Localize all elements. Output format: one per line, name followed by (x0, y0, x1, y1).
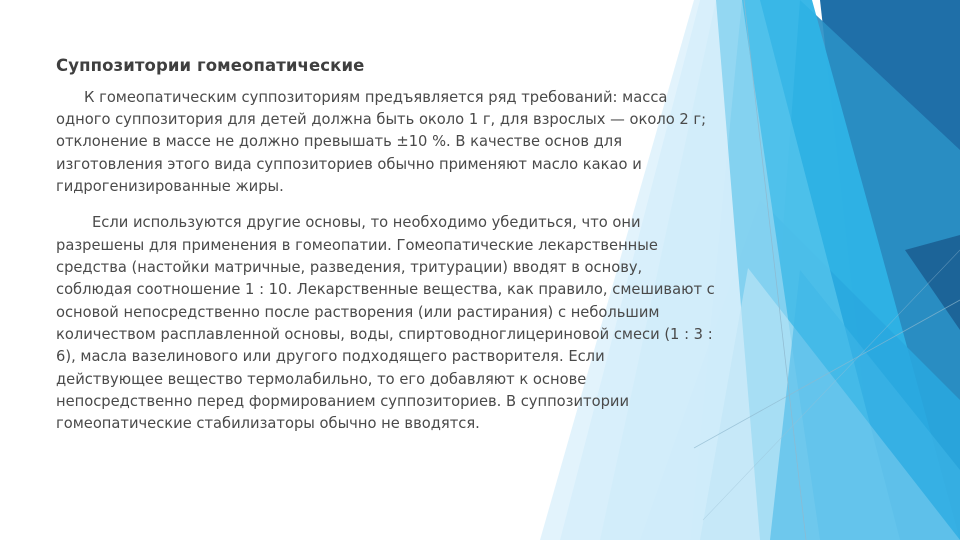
decor-shape-notch (905, 235, 960, 330)
decor-shape-sky-2 (770, 270, 960, 540)
decor-hairline-3 (703, 250, 960, 520)
decor-shape-deep-1 (820, 0, 960, 540)
body-paragraph-2: Если используются другие основы, то необ… (56, 212, 716, 435)
decor-hairline-1 (744, 0, 806, 540)
decor-shape-bright-1 (690, 0, 960, 540)
decor-hairline-2 (694, 300, 960, 448)
slide-content: Суппозитории гомеопатические К гомеопати… (56, 56, 716, 445)
page-title: Суппозитории гомеопатические (56, 56, 716, 77)
body-paragraph-1: К гомеопатическим суппозиториям предъявл… (56, 87, 716, 199)
slide-canvas: Суппозитории гомеопатические К гомеопати… (0, 0, 960, 540)
decor-shape-deep-2 (760, 0, 960, 540)
decor-shape-pale-2 (700, 268, 960, 540)
